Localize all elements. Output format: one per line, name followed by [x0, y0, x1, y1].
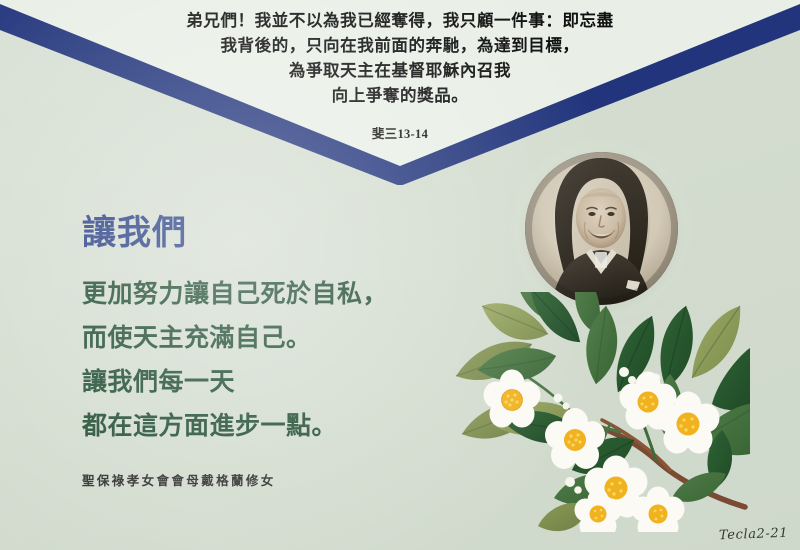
scripture-line: 弟兄們！我並不以為我已經奪得，我只顧一件事：即忘盡: [0, 8, 800, 33]
scripture-line: 為爭取天主在基督耶穌內召我: [0, 58, 800, 83]
devotional-poster: 弟兄們！我並不以為我已經奪得，我只顧一件事：即忘盡 我背後的，只向在我前面的奔馳…: [0, 0, 800, 550]
artist-signature: Tecla2-21: [719, 526, 789, 543]
scripture-reference: 斐三13-14: [0, 123, 800, 142]
scripture-line: 向上爭奪的獎品。: [0, 83, 800, 108]
nun-portrait-image: [525, 152, 678, 305]
message-headline: 讓我們: [82, 213, 187, 253]
camellia-branch-illustration: [420, 292, 750, 532]
message-attribution: 聖保祿孝女會會母戴格蘭修女: [82, 470, 276, 489]
scripture-line: 我背後的，只向在我前面的奔馳，為達到目標，: [0, 33, 800, 58]
scripture-quote: 弟兄們！我並不以為我已經奪得，我只顧一件事：即忘盡 我背後的，只向在我前面的奔馳…: [0, 8, 800, 108]
